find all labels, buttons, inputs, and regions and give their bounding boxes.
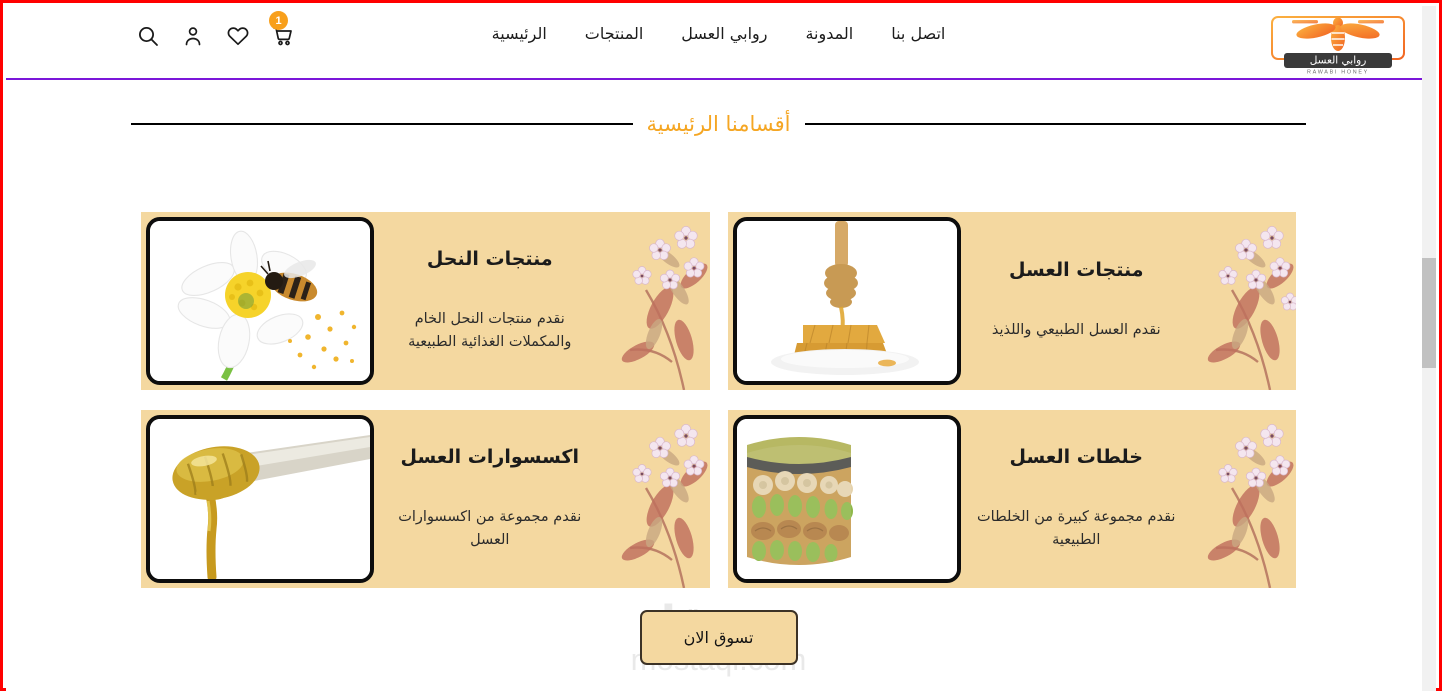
bee-emblem-logo-icon: روابي العسل RAWABI HONEY bbox=[1264, 11, 1412, 75]
category-image-bee-on-flower bbox=[146, 217, 374, 385]
nav-item-blog[interactable]: المدونة bbox=[805, 24, 853, 43]
category-title: خلطات العسل bbox=[975, 446, 1179, 468]
heading-rule-left bbox=[131, 123, 633, 125]
category-title: اكسسوارات العسل bbox=[388, 446, 592, 468]
category-card-bee-products[interactable]: منتجات النحل نقدم منتجات النحل الخام وال… bbox=[141, 212, 710, 390]
category-text-block: خلطات العسل نقدم مجموعة كبيرة من الخلطات… bbox=[961, 446, 1297, 552]
nav-item-about[interactable]: روابي العسل bbox=[681, 24, 767, 43]
category-title: منتجات العسل bbox=[975, 259, 1179, 281]
category-description: نقدم منتجات النحل الخام والمكملات الغذائ… bbox=[388, 308, 592, 354]
nav-item-products[interactable]: المنتجات bbox=[585, 24, 644, 43]
jar bbox=[747, 437, 853, 565]
category-image-nuts-jar bbox=[733, 415, 961, 583]
category-text-block: منتجات العسل نقدم العسل الطبيعي واللذيذ bbox=[961, 259, 1297, 342]
category-description: نقدم مجموعة من اكسسوارات العسل bbox=[388, 506, 592, 552]
page-scrollbar-thumb[interactable] bbox=[1422, 258, 1436, 368]
category-grid: منتجات العسل نقدم العسل الطبيعي واللذيذ bbox=[141, 212, 1296, 588]
category-image-honey-dipper-dripping bbox=[146, 415, 374, 583]
page-root: 1 bbox=[6, 6, 1431, 691]
logo-latin-text: RAWABI HONEY bbox=[1307, 69, 1369, 75]
category-text-block: اكسسوارات العسل نقدم مجموعة من اكسسوارات… bbox=[374, 446, 710, 552]
category-card-honey-accessories[interactable]: اكسسوارات العسل نقدم مجموعة من اكسسوارات… bbox=[141, 410, 710, 588]
nav-item-home[interactable]: الرئيسية bbox=[492, 24, 547, 43]
main-navigation: اتصل بنا المدونة روابي العسل المنتجات ال… bbox=[6, 24, 1431, 43]
category-text-block: منتجات النحل نقدم منتجات النحل الخام وال… bbox=[374, 248, 710, 354]
category-title: منتجات النحل bbox=[388, 248, 592, 270]
category-image-honey-dipper-honeycomb bbox=[733, 217, 961, 385]
category-card-honey-mixes[interactable]: خلطات العسل نقدم مجموعة كبيرة من الخلطات… bbox=[728, 410, 1297, 588]
category-description: نقدم مجموعة كبيرة من الخلطات الطبيعية bbox=[975, 506, 1179, 552]
logo-arabic-text: روابي العسل bbox=[1310, 55, 1367, 67]
site-header: 1 bbox=[6, 6, 1431, 78]
category-description: نقدم العسل الطبيعي واللذيذ bbox=[975, 319, 1179, 342]
shop-now-button[interactable]: تسوق الان bbox=[640, 610, 798, 665]
cta-area: مستقل mostaql.com تسوق الان bbox=[6, 610, 1431, 665]
brand-logo[interactable]: روابي العسل RAWABI HONEY bbox=[1263, 10, 1413, 76]
browser-viewport-frame: 1 bbox=[0, 0, 1442, 691]
nav-item-contact[interactable]: اتصل بنا bbox=[891, 24, 945, 43]
main-content: أقسامنا الرئيسية bbox=[6, 78, 1431, 665]
heading-rule-right bbox=[805, 123, 1307, 125]
page-title: أقسامنا الرئيسية bbox=[647, 112, 791, 136]
category-card-honey-products[interactable]: منتجات العسل نقدم العسل الطبيعي واللذيذ bbox=[728, 212, 1297, 390]
section-heading: أقسامنا الرئيسية bbox=[131, 112, 1306, 136]
